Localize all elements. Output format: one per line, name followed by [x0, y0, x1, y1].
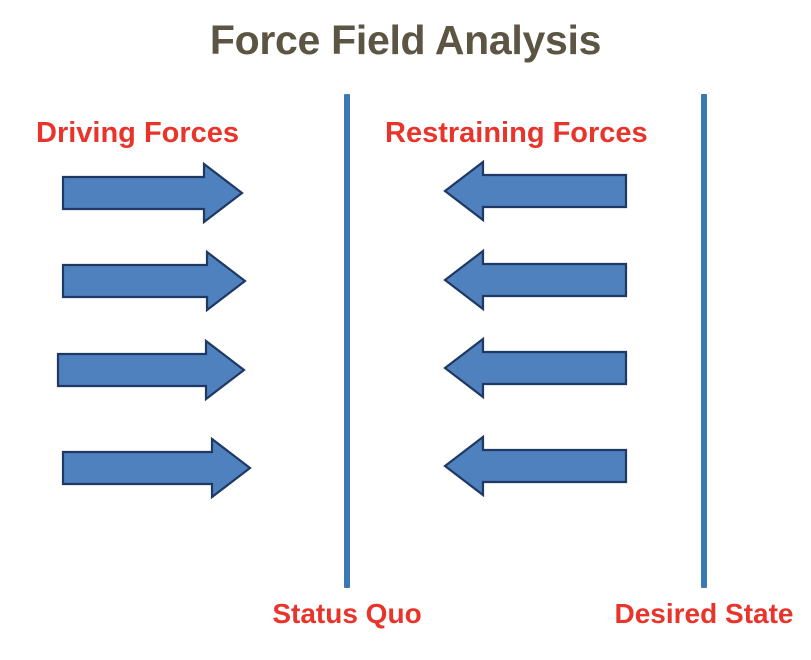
restraining-force-arrow-4	[443, 433, 628, 499]
restraining-forces-heading: Restraining Forces	[385, 119, 648, 148]
page-title: Force Field Analysis	[0, 18, 811, 63]
desired-state-divider-line	[701, 94, 707, 588]
restraining-force-arrow-1	[443, 158, 628, 224]
driving-force-arrow-3	[56, 337, 246, 403]
driving-force-arrow-2	[61, 248, 247, 314]
status-quo-divider-line	[344, 94, 350, 588]
desired-state-label: Desired State	[615, 600, 794, 628]
restraining-force-arrow-2	[443, 247, 628, 313]
status-quo-label: Status Quo	[272, 600, 421, 628]
driving-force-arrow-4	[61, 435, 252, 501]
restraining-force-arrow-3	[443, 335, 628, 401]
driving-forces-heading: Driving Forces	[36, 119, 239, 148]
driving-force-arrow-1	[61, 160, 244, 226]
force-field-analysis-diagram: Force Field Analysis Driving Forces Rest…	[0, 0, 811, 660]
